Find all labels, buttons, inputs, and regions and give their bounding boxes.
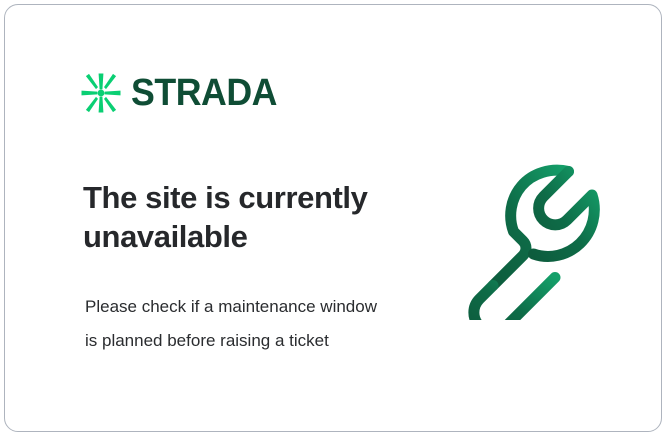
page-title: The site is currently unavailable	[83, 178, 413, 257]
brand-wordmark: STRADA	[131, 74, 277, 112]
status-card: STRADA The site is currently unavailable…	[4, 4, 662, 432]
page-description: Please check if a maintenance window is …	[85, 290, 385, 358]
wrench-icon	[457, 155, 617, 320]
asterisk-star-icon	[81, 73, 121, 113]
error-page: STRADA The site is currently unavailable…	[0, 0, 666, 436]
brand-logo: STRADA	[81, 73, 286, 113]
